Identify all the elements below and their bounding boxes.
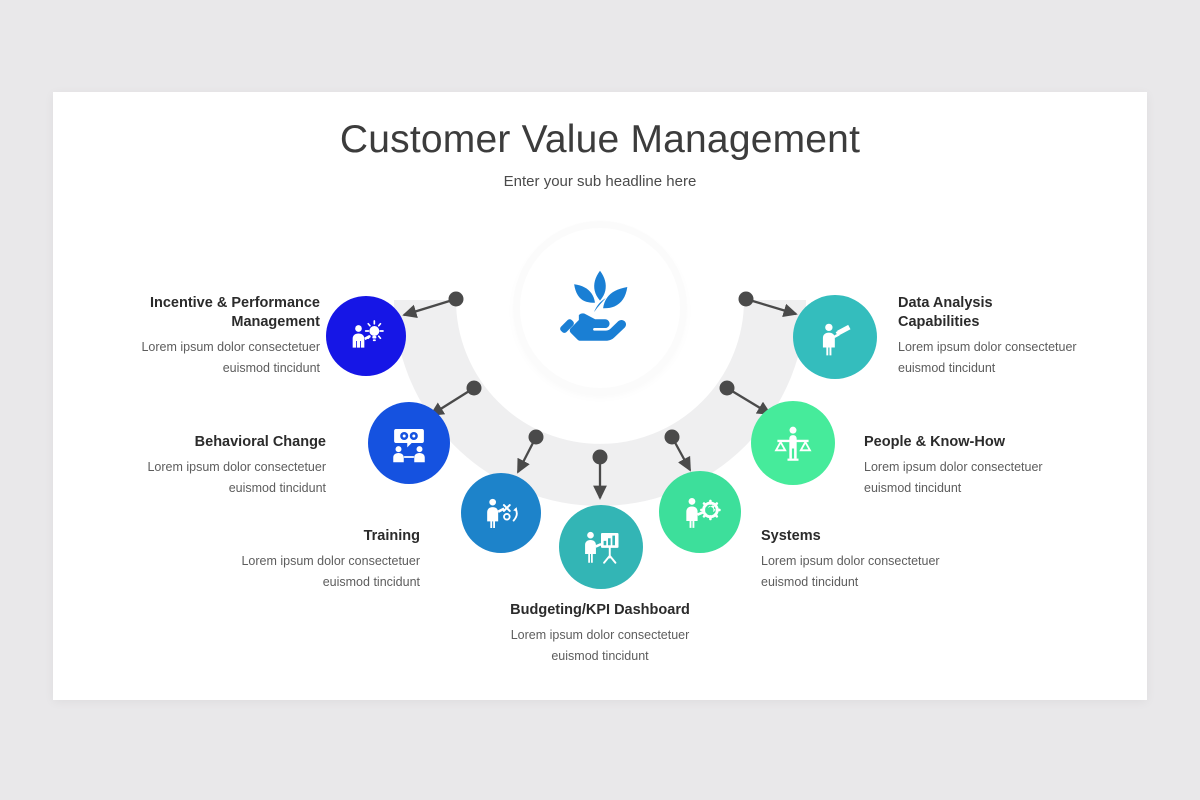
person-idea-lightbulb-icon xyxy=(346,316,386,356)
node-desc-line2: euismod tincidunt xyxy=(864,478,1084,499)
node-desc-line2: euismod tincidunt xyxy=(761,572,981,593)
node-title: Incentive & Performance Management xyxy=(108,294,320,332)
node-circle-training[interactable] xyxy=(461,473,541,553)
label-people-know-how: People & Know-How Lorem ipsum dolor cons… xyxy=(864,433,1084,499)
node-desc-line1: Lorem ipsum dolor consectetuer xyxy=(212,551,420,572)
connector-dot-2 xyxy=(467,381,482,396)
person-telescope-icon xyxy=(814,316,856,358)
hand-holding-plant-icon xyxy=(553,259,647,358)
node-desc-line2: euismod tincidunt xyxy=(898,358,1098,379)
person-strategy-percent-icon xyxy=(481,493,521,533)
label-budgeting-kpi-dashboard: Budgeting/KPI Dashboard Lorem ipsum dolo… xyxy=(480,601,720,667)
node-desc-line1: Lorem ipsum dolor consectetuer xyxy=(898,337,1098,358)
label-training: Training Lorem ipsum dolor consectetuer … xyxy=(212,527,420,593)
node-desc-line2: euismod tincidunt xyxy=(480,646,720,667)
people-gears-chat-icon xyxy=(388,422,430,464)
label-data-analysis-capabilities: Data Analysis Capabilities Lorem ipsum d… xyxy=(898,294,1098,379)
node-desc-line2: euismod tincidunt xyxy=(212,572,420,593)
label-incentive-performance-management: Incentive & Performance Management Lorem… xyxy=(108,294,320,379)
node-circle-behavioral-change[interactable] xyxy=(368,402,450,484)
node-title: Budgeting/KPI Dashboard xyxy=(480,601,720,620)
node-title: People & Know-How xyxy=(864,433,1084,452)
label-systems: Systems Lorem ipsum dolor consectetuer e… xyxy=(761,527,981,593)
node-circle-budgeting-kpi-dashboard[interactable] xyxy=(559,505,643,589)
node-title-line1: Data Analysis xyxy=(898,294,1098,313)
connector-dot-3 xyxy=(529,430,544,445)
node-title: Behavioral Change xyxy=(118,433,326,452)
node-circle-data-analysis-capabilities[interactable] xyxy=(793,295,877,379)
page-subtitle: Enter your sub headline here xyxy=(0,173,1200,190)
node-title: Systems xyxy=(761,527,981,546)
node-circle-people-know-how[interactable] xyxy=(751,401,835,485)
node-desc-line1: Lorem ipsum dolor consectetuer xyxy=(864,457,1084,478)
node-desc-line2: euismod tincidunt xyxy=(108,358,320,379)
node-desc-line1: Lorem ipsum dolor consectetuer xyxy=(108,337,320,358)
node-desc-line1: Lorem ipsum dolor consectetuer xyxy=(761,551,981,572)
connector-dot-7 xyxy=(739,292,754,307)
node-circle-systems[interactable] xyxy=(659,471,741,553)
node-title-line2: Capabilities xyxy=(898,313,1098,332)
page-title: Customer Value Management xyxy=(0,118,1200,162)
hub-circle[interactable] xyxy=(520,228,680,388)
label-behavioral-change: Behavioral Change Lorem ipsum dolor cons… xyxy=(118,433,326,499)
presenter-bar-chart-icon xyxy=(580,526,622,568)
person-gear-icon xyxy=(680,492,721,533)
node-title: Training xyxy=(212,527,420,546)
person-balance-scales-icon xyxy=(771,421,815,465)
node-desc-line2: euismod tincidunt xyxy=(118,478,326,499)
node-desc-line1: Lorem ipsum dolor consectetuer xyxy=(480,625,720,646)
slide-stage: Customer Value Management Enter your sub… xyxy=(0,0,1200,800)
connector-dot-5 xyxy=(665,430,680,445)
connector-dot-4 xyxy=(593,450,608,465)
node-desc-line1: Lorem ipsum dolor consectetuer xyxy=(118,457,326,478)
node-circle-incentive-performance-management[interactable] xyxy=(326,296,406,376)
connector-dot-1 xyxy=(449,292,464,307)
connector-dot-6 xyxy=(720,381,735,396)
